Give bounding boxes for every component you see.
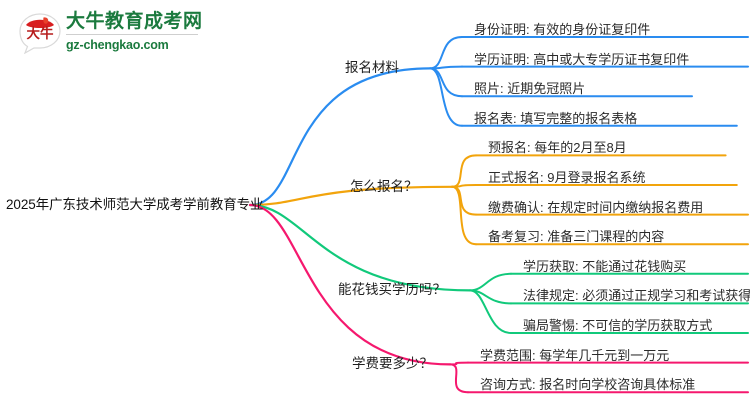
connector-line <box>430 68 462 96</box>
connector-line <box>450 364 468 392</box>
leaf-node-label[interactable]: 报名表: 填写完整的报名表格 <box>474 110 637 128</box>
branch-node-label[interactable]: 学费要多少？ <box>352 355 433 373</box>
connector-line <box>470 290 511 333</box>
leaf-node-label[interactable]: 备考复习: 准备三门课程的内容 <box>488 228 664 246</box>
mindmap-page: 大牛 大牛教育成考网 gz-chengkao.com 2025年广东技术师范大学… <box>0 0 750 410</box>
connector-line <box>430 68 462 125</box>
leaf-node-label[interactable]: 缴费确认: 在规定时间内缴纳报名费用 <box>488 199 703 217</box>
branch-node-label[interactable]: 怎么报名？ <box>350 178 418 196</box>
leaf-node-label[interactable]: 学历证明: 高中或大专学历证书复印件 <box>474 51 689 69</box>
connector-line <box>452 187 476 215</box>
leaf-node-label[interactable]: 正式报名: 9月登录报名系统 <box>488 169 645 187</box>
leaf-node-label[interactable]: 预报名: 每年的2月至8月 <box>488 139 627 157</box>
root-node-label[interactable]: 2025年广东技术师范大学成考学前教育专业 <box>6 196 263 214</box>
connector-line <box>250 205 470 290</box>
leaf-node-label[interactable]: 学历获取: 不能通过花钱购买 <box>523 258 686 276</box>
leaf-node-label[interactable]: 法律规定: 必须通过正规学习和考试获得 <box>523 287 750 305</box>
leaf-node-label[interactable]: 咨询方式: 报名时向学校咨询具体标准 <box>480 376 695 394</box>
branch-node-label[interactable]: 能花钱买学历吗？ <box>338 281 446 299</box>
leaf-node-label[interactable]: 照片: 近期免冠照片 <box>474 80 585 98</box>
connector-line <box>470 274 511 291</box>
leaf-node-label[interactable]: 学费范围: 每学年几千元到一万元 <box>480 347 669 365</box>
leaf-node-label[interactable]: 身份证明: 有效的身份证复印件 <box>474 21 650 39</box>
leaf-node-label[interactable]: 骗局警惕: 不可信的学历获取方式 <box>523 317 712 335</box>
connector-line <box>430 37 462 68</box>
connector-line <box>452 155 476 186</box>
connector-line <box>452 187 476 244</box>
branch-node-label[interactable]: 报名材料 <box>345 59 399 77</box>
